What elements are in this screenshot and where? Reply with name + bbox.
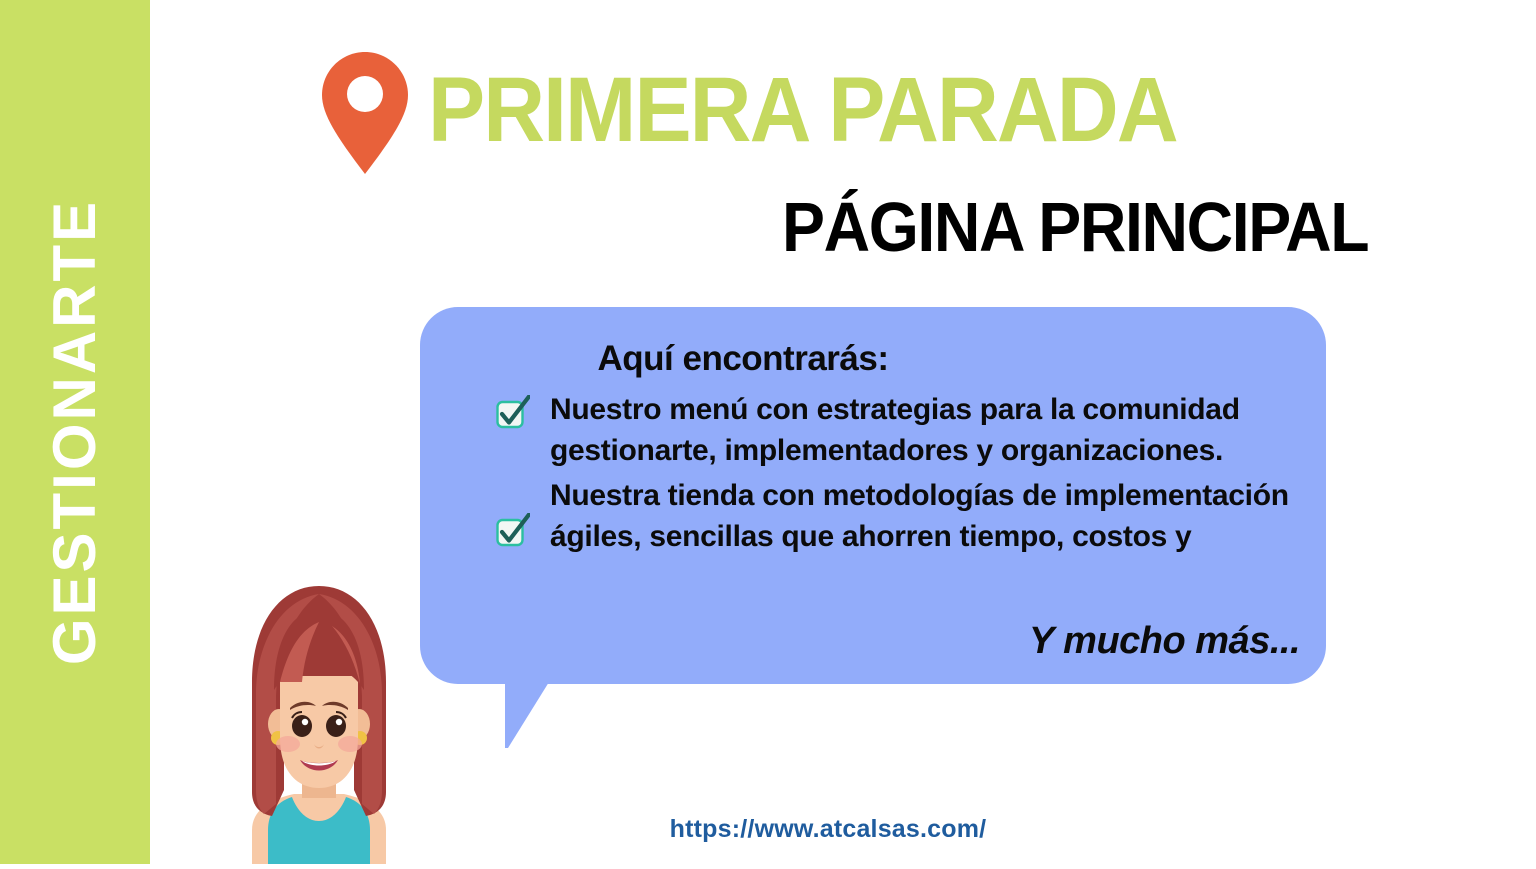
list-item-label: Nuestra tienda con metodologías de imple… [550, 475, 1312, 557]
map-pin-icon [322, 52, 408, 174]
checkbox-checked-icon [496, 513, 530, 547]
sidebar-brand-label: GESTIONARTE [45, 199, 105, 665]
list-item: Nuestro menú con estrategias para la com… [496, 389, 1312, 471]
bubble-footer-text: Y mucho más... [1029, 622, 1300, 660]
brand-sidebar: GESTIONARTE [0, 0, 150, 864]
checkbox-checked-icon [496, 395, 530, 429]
speech-bubble: Aquí encontrarás: Nuestro menú con estra… [420, 307, 1326, 684]
page-subtitle: PÁGINA PRINCIPAL [782, 192, 1368, 262]
list-item-label: Nuestro menú con estrategias para la com… [550, 389, 1312, 471]
website-url[interactable]: https://www.atcalsas.com/ [0, 815, 1536, 844]
list-item: Nuestra tienda con metodologías de imple… [496, 475, 1312, 557]
speech-bubble-tail [505, 682, 557, 750]
bullet-list: Nuestro menú con estrategias para la com… [496, 389, 1312, 561]
page-title: PRIMERA PARADA [428, 64, 1177, 156]
bubble-heading: Aquí encontrarás: [420, 339, 1326, 379]
